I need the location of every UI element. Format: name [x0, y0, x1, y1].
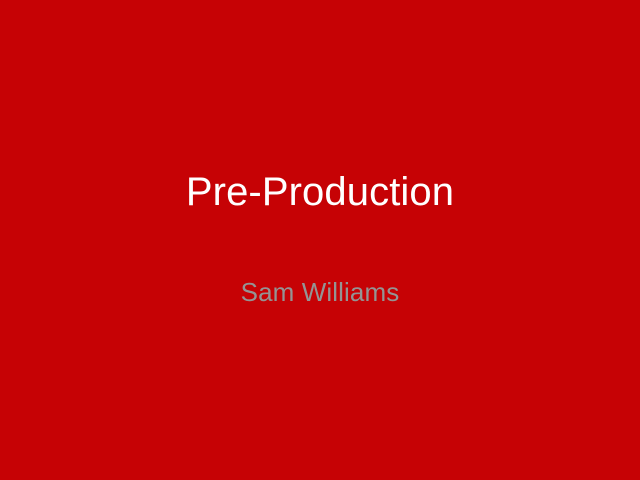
subtitle-placeholder[interactable]: Sam Williams	[96, 276, 544, 308]
title-slide: Pre-Production Sam Williams	[0, 0, 640, 480]
slide-subtitle-author: Sam Williams	[96, 276, 544, 308]
slide-content-area: Pre-Production Sam Williams	[0, 0, 640, 480]
slide-title: Pre-Production	[64, 168, 576, 216]
title-placeholder[interactable]: Pre-Production	[64, 168, 576, 216]
